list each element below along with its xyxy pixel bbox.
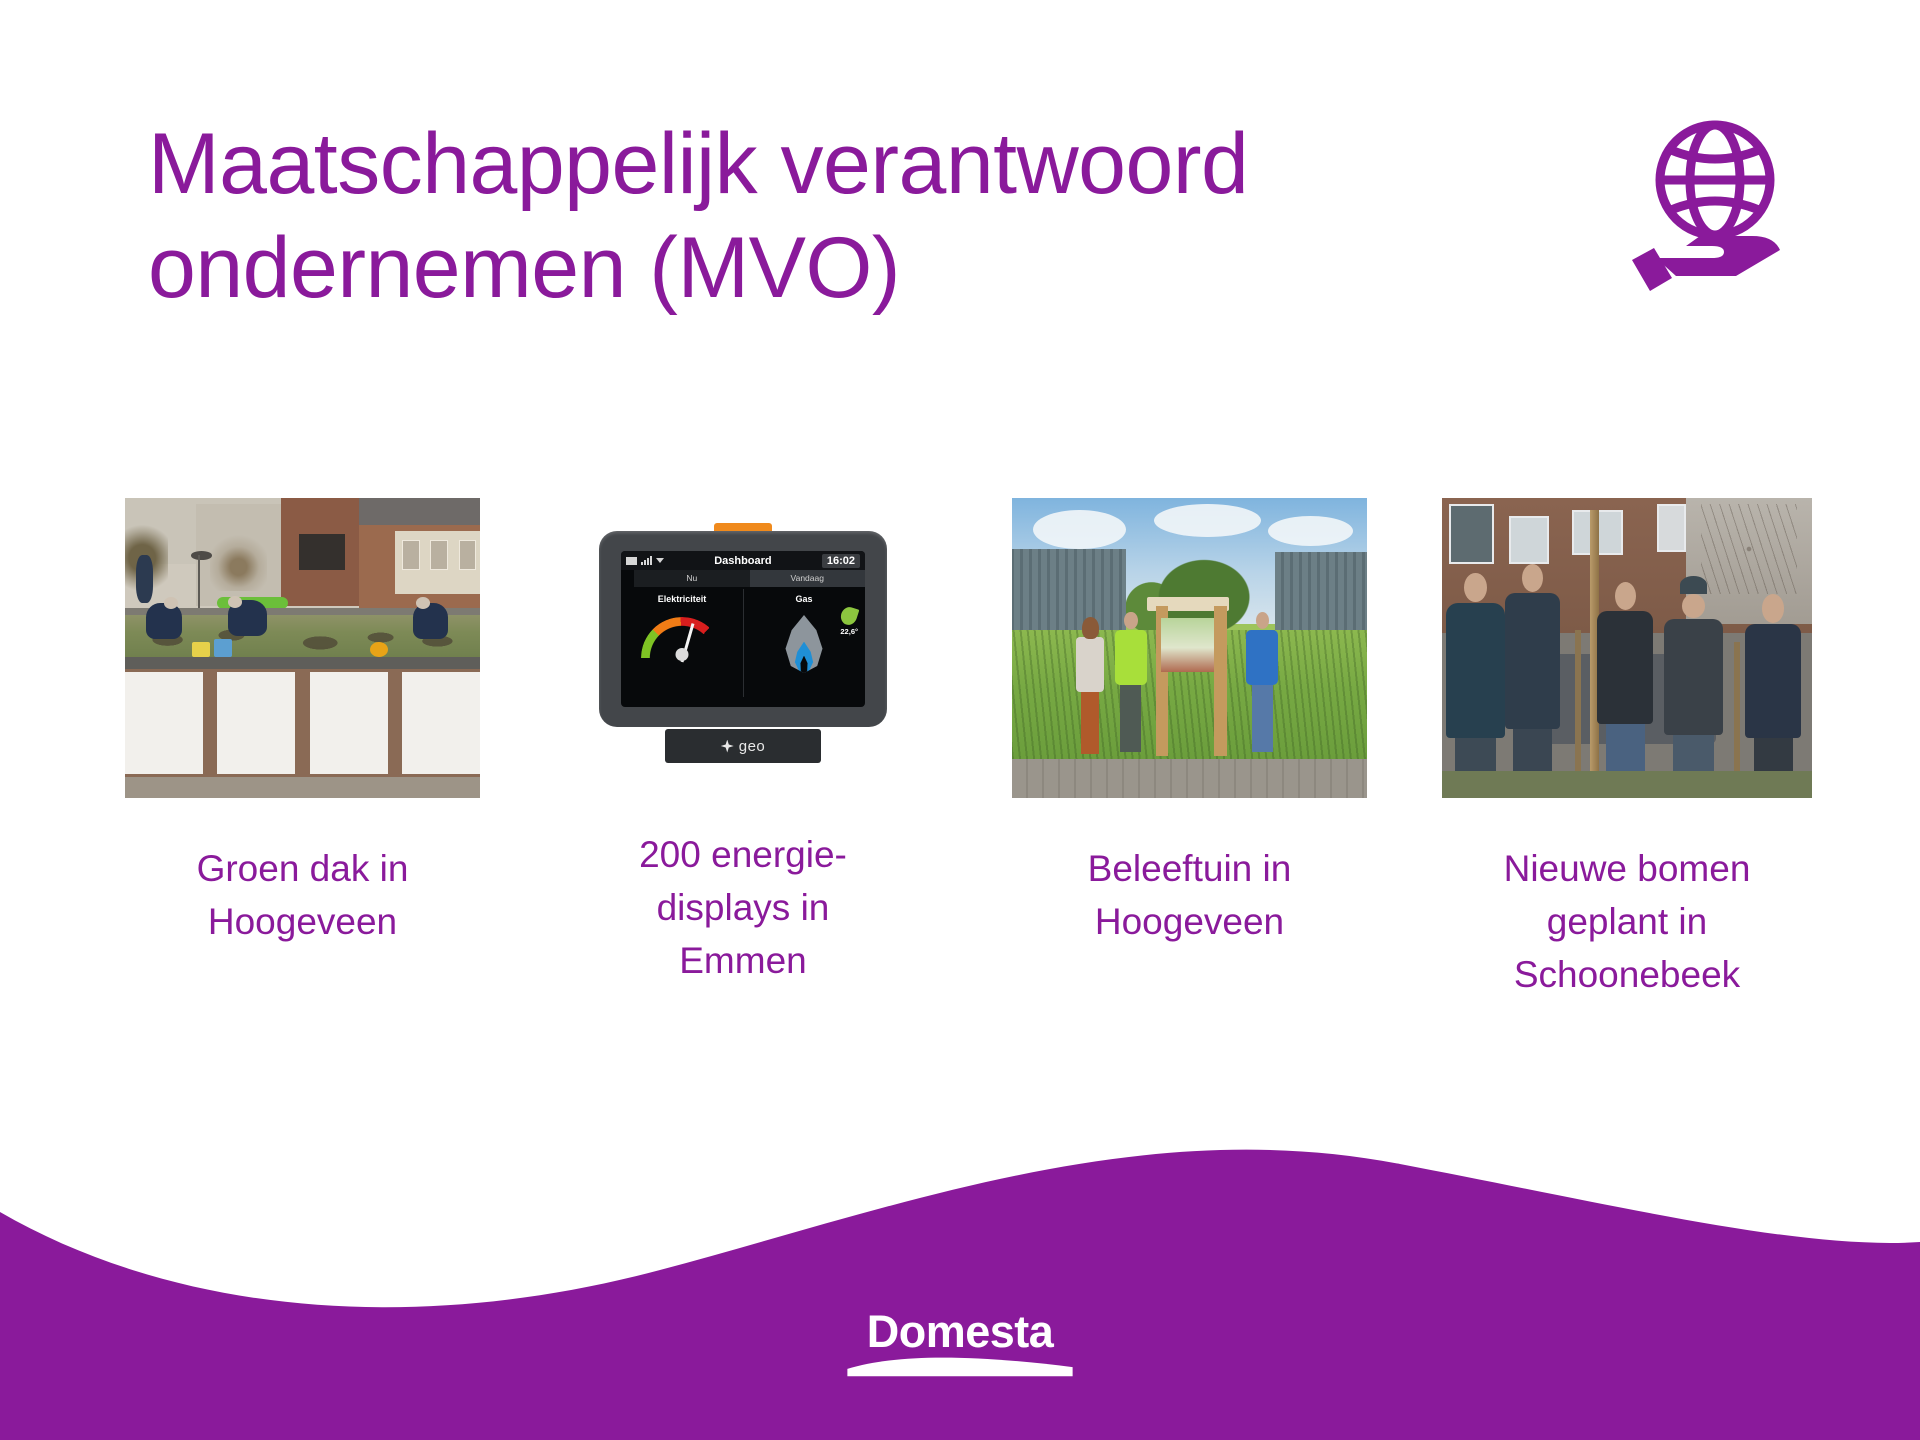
caption-line: Emmen (573, 934, 913, 987)
caption-line: Hoogeveen (1012, 895, 1367, 948)
electricity-label: Elektriciteit (621, 594, 743, 604)
card-caption-beleeftuin: Beleeftuin in Hoogeveen (1012, 842, 1367, 948)
card-energy-displays: Dashboard 16:02 Nu Vandaag Elektriciteit (573, 498, 913, 987)
globe-in-hand-icon (1620, 108, 1810, 298)
device-screen: Dashboard 16:02 Nu Vandaag Elektriciteit (621, 551, 865, 707)
card-row: Groen dak in Hoogeveen Dashboard (0, 498, 1920, 978)
caption-line: Beleeftuin in (1012, 842, 1367, 895)
title-line-2: ondernemen (MVO) (148, 216, 1548, 320)
device-stand: geo (665, 729, 821, 763)
geo-energy-display-device: Dashboard 16:02 Nu Vandaag Elektriciteit (593, 523, 893, 773)
card-green-roof: Groen dak in Hoogeveen (125, 498, 480, 948)
caption-line: 200 energie- (573, 828, 913, 881)
slide-canvas: Maatschappelijk verantwoord ondernemen (… (0, 0, 1920, 1440)
card-new-trees: Nieuwe bomen geplant in Schoonebeek (1442, 498, 1812, 1001)
footer-wave (0, 1120, 1920, 1440)
flame-icon (782, 615, 826, 673)
domesta-logo-swoosh (835, 1356, 1085, 1380)
chevron-down-icon (656, 558, 664, 563)
caption-line: Schoonebeek (1442, 948, 1812, 1001)
screen-body: Elektriciteit Gas (621, 587, 865, 707)
geo-star-icon (721, 740, 734, 753)
temperature-value: 22,6° (840, 627, 858, 636)
signal-bars-icon (641, 556, 652, 565)
caption-line: displays in (573, 881, 913, 934)
gauge-hub (676, 648, 689, 661)
electricity-panel: Elektriciteit (621, 587, 743, 707)
envelope-icon (626, 557, 637, 565)
screen-clock: 16:02 (822, 554, 860, 568)
card-caption-new-trees: Nieuwe bomen geplant in Schoonebeek (1442, 842, 1812, 1001)
page-title: Maatschappelijk verantwoord ondernemen (… (148, 112, 1548, 320)
caption-line: Groen dak in (125, 842, 480, 895)
tab-today[interactable]: Vandaag (750, 570, 866, 587)
screen-status-bar: Dashboard 16:02 (621, 551, 865, 570)
domesta-logo: Domesta (830, 1308, 1090, 1385)
screen-tabs: Nu Vandaag (621, 570, 865, 587)
domesta-logo-text: Domesta (830, 1308, 1090, 1356)
gas-label: Gas (743, 594, 865, 604)
card-beleeftuin: Beleeftuin in Hoogeveen (1012, 498, 1367, 948)
gas-panel: Gas 22,6° (743, 587, 865, 707)
tab-now[interactable]: Nu (634, 570, 750, 587)
photo-tree-planting (1442, 498, 1812, 798)
photo-green-roof (125, 498, 480, 798)
title-line-1: Maatschappelijk verantwoord (148, 112, 1548, 216)
card-caption-green-roof: Groen dak in Hoogeveen (125, 842, 480, 948)
temperature-badge: 22,6° (840, 607, 858, 636)
photo-energy-display: Dashboard 16:02 Nu Vandaag Elektriciteit (573, 498, 913, 798)
screen-title: Dashboard (668, 555, 818, 567)
leaf-icon (839, 605, 860, 627)
card-caption-energy-displays: 200 energie- displays in Emmen (573, 828, 913, 987)
photo-beleeftuin (1012, 498, 1367, 798)
caption-line: Nieuwe bomen (1442, 842, 1812, 895)
geo-brand-text: geo (739, 738, 766, 755)
caption-line: geplant in (1442, 895, 1812, 948)
caption-line: Hoogeveen (125, 895, 480, 948)
geo-logo: geo (721, 738, 766, 755)
